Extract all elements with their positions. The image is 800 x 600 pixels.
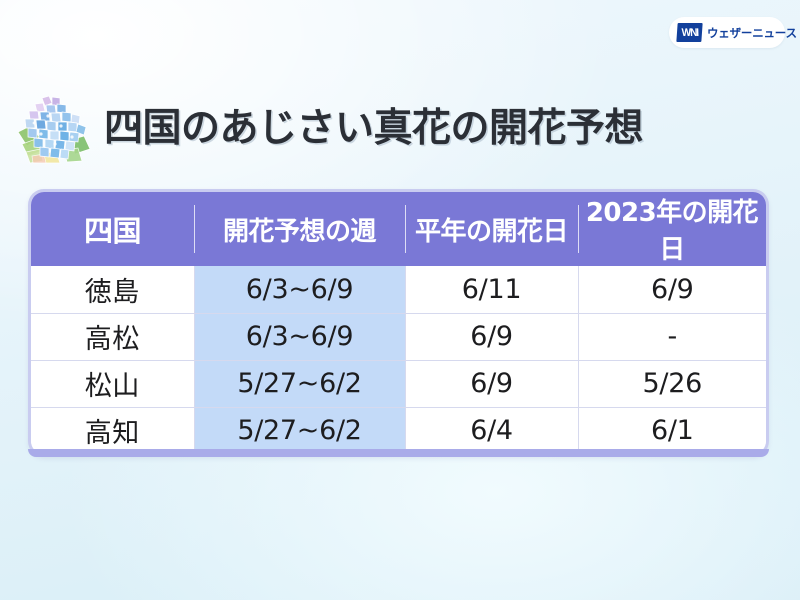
- cell-area: 高知: [31, 407, 194, 454]
- cell-forecast-week: 6/3~6/9: [194, 266, 405, 313]
- cell-forecast-week: 5/27~6/2: [194, 360, 405, 407]
- table-header-row: 四国 開花予想の週 平年の開花日 2023年の開花日: [31, 192, 766, 266]
- column-header-last-year-date: 2023年の開花日: [578, 192, 766, 266]
- wni-mark-label: WNI: [681, 27, 698, 39]
- cell-last-year-date: 6/9: [578, 266, 766, 313]
- column-header-area: 四国: [31, 192, 194, 266]
- bloom-forecast-table: 四国 開花予想の週 平年の開花日 2023年の開花日 徳島 6/3~6/9 6/…: [31, 192, 766, 454]
- table-header: 四国 開花予想の週 平年の開花日 2023年の開花日: [31, 192, 766, 266]
- table-row: 高知 5/27~6/2 6/4 6/1: [31, 407, 766, 454]
- forecast-table-inner: 四国 開花予想の週 平年の開花日 2023年の開花日 徳島 6/3~6/9 6/…: [31, 192, 766, 454]
- column-header-forecast-week: 開花予想の週: [194, 192, 405, 266]
- cell-area: 徳島: [31, 266, 194, 313]
- cell-last-year-date: 6/1: [578, 407, 766, 454]
- cell-last-year-date: -: [578, 313, 766, 360]
- weathernews-logo[interactable]: WNI ウェザーニュース: [669, 17, 785, 48]
- cell-forecast-week: 5/27~6/2: [194, 407, 405, 454]
- cell-area: 松山: [31, 360, 194, 407]
- table-row: 高松 6/3~6/9 6/9 -: [31, 313, 766, 360]
- table-row: 徳島 6/3~6/9 6/11 6/9: [31, 266, 766, 313]
- cell-normal-date: 6/11: [405, 266, 578, 313]
- cell-normal-date: 6/4: [405, 407, 578, 454]
- cell-forecast-week: 6/3~6/9: [194, 313, 405, 360]
- column-header-normal-date: 平年の開花日: [405, 192, 578, 266]
- hydrangea-flower-icon: [12, 92, 100, 164]
- cell-normal-date: 6/9: [405, 360, 578, 407]
- table-row: 松山 5/27~6/2 6/9 5/26: [31, 360, 766, 407]
- brand-name-label: ウェザーニュース: [707, 25, 797, 41]
- cell-normal-date: 6/9: [405, 313, 578, 360]
- table-body: 徳島 6/3~6/9 6/11 6/9 高松 6/3~6/9 6/9 - 松山 …: [31, 266, 766, 454]
- page-background: WNI ウェザーニュース: [0, 0, 800, 600]
- cell-last-year-date: 5/26: [578, 360, 766, 407]
- page-title: 四国のあじさい真花の開花予想: [104, 109, 643, 148]
- title-row: 四国のあじさい真花の開花予想: [12, 92, 712, 164]
- forecast-table-container: 四国 開花予想の週 平年の開花日 2023年の開花日 徳島 6/3~6/9 6/…: [28, 189, 769, 457]
- wni-mark-icon: WNI: [676, 23, 702, 42]
- cell-area: 高松: [31, 313, 194, 360]
